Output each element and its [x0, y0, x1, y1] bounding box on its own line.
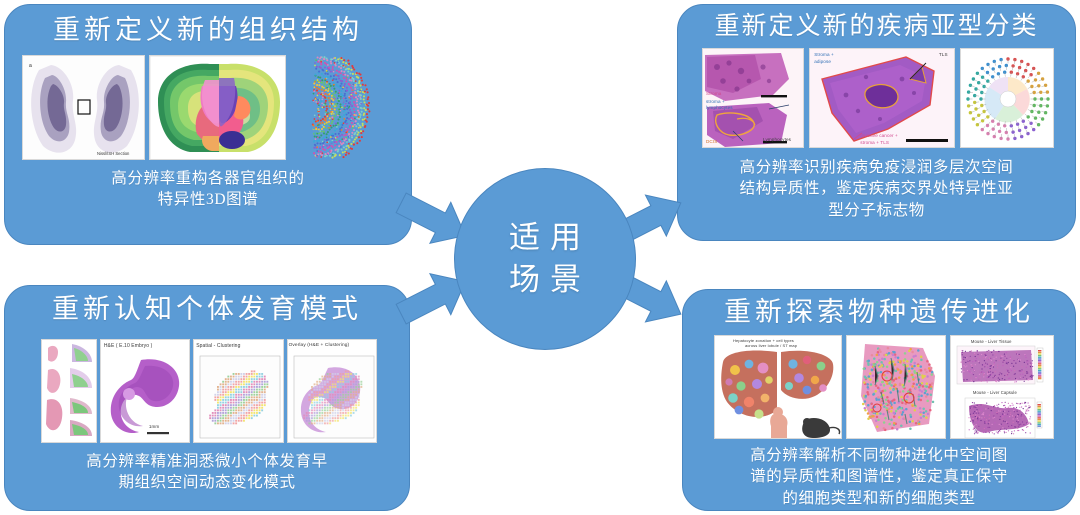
caption-line: 高分辨率识别疾病免疫浸润多层次空间 — [678, 157, 1075, 178]
caption-line: 特异性3D图谱 — [5, 189, 411, 210]
svg-text:Nissl/ISH Section: Nissl/ISH Section — [97, 151, 130, 156]
figure-tls-invasive-cancer: Stroma + adipose TLS Invasive cancer + s… — [809, 48, 954, 148]
caption-line: 期组织空间动态变化模式 — [5, 472, 409, 493]
figure-circular-phylogeny — [960, 48, 1054, 148]
figure-row-bottom-right: Hepatocyte zonation + cell types across … — [714, 335, 1054, 439]
panel-bottom-left[interactable]: 重新认知个体发育模式 — [4, 285, 410, 511]
center-hub-line2: 场景 — [499, 259, 591, 301]
figure-row-top-right: Stroma stroma + lymphocytes DCIS Lymphoc… — [702, 48, 1054, 148]
panel-caption-bottom-left: 高分辨率精准洞悉微小个体发育早 期组织空间动态变化模式 — [5, 451, 409, 494]
figure-liver-celltype-schematic: Hepatocyte zonation + cell types across … — [714, 335, 842, 439]
figure-liver-spatial-map — [846, 335, 946, 439]
figure-ish-brain-section: a Nissl/ISH Section — [22, 55, 145, 160]
slide-canvas: 重新定义新的组织结构 a Nissl/ISH Secti — [0, 0, 1080, 515]
panel-title-bottom-right: 重新探索物种遗传进化 — [683, 298, 1075, 326]
caption-line: 谱的异质性和图谱性，鉴定真正保守 — [683, 466, 1075, 487]
panel-caption-top-left: 高分辨率重构各器官组织的 特异性3D图谱 — [5, 168, 411, 211]
figure-row-top-left: a Nissl/ISH Section — [22, 55, 398, 160]
figure-spatial-cluster-brain — [290, 55, 398, 160]
figure-overlay-he-clustering: Overlay (H&E + Clustering) — [287, 339, 377, 443]
caption-line: 高分辨率重构各器官组织的 — [5, 168, 411, 189]
svg-text:a: a — [29, 63, 32, 69]
panel-top-left[interactable]: 重新定义新的组织结构 a Nissl/ISH Secti — [4, 4, 412, 245]
caption-line: 高分辨率精准洞悉微小个体发育早 — [5, 451, 409, 472]
caption-line: 结构异质性，鉴定疾病交界处特异性亚 — [678, 178, 1075, 199]
figure-mouse-liver-tissue: Mouse - Liver Tissue Mouse - Liver Capsu… — [950, 335, 1054, 439]
figure-annotated-brain-atlas — [149, 55, 286, 160]
panel-title-bottom-left: 重新认知个体发育模式 — [5, 295, 409, 323]
panel-bottom-right[interactable]: 重新探索物种遗传进化 — [682, 289, 1076, 511]
figure-spatial-clustering: Spatial - Clustering — [193, 339, 283, 443]
caption-line: 高分辨率解析不同物种进化中空间图 — [683, 445, 1075, 466]
panel-caption-top-right: 高分辨率识别疾病免疫浸润多层次空间 结构异质性，鉴定疾病交界处特异性亚 型分子标… — [678, 157, 1075, 221]
figure-embryo-schematics — [41, 339, 97, 443]
caption-line: 型分子标志物 — [678, 200, 1075, 221]
center-hub[interactable]: 适用 场景 — [454, 168, 636, 350]
caption-line: 的细胞类型和新的细胞类型 — [683, 488, 1075, 509]
figure-he-embryo: H&E ( E.10 Embryo ) 1mm — [100, 339, 190, 443]
panel-caption-bottom-right: 高分辨率解析不同物种进化中空间图 谱的异质性和图谱性，鉴定真正保守 的细胞类型和… — [683, 445, 1075, 509]
panel-title-top-right: 重新定义新的疾病亚型分类 — [678, 14, 1075, 40]
figure-row-bottom-left: H&E ( E.10 Embryo ) 1mm Spatial - Cluste… — [41, 339, 377, 443]
panel-title-top-left: 重新定义新的组织结构 — [5, 16, 411, 44]
center-hub-line1: 适用 — [499, 217, 591, 259]
figure-he-tumor-stroma: Stroma stroma + lymphocytes DCIS Lymphoc… — [702, 48, 804, 148]
panel-top-right[interactable]: 重新定义新的疾病亚型分类 — [677, 4, 1076, 241]
